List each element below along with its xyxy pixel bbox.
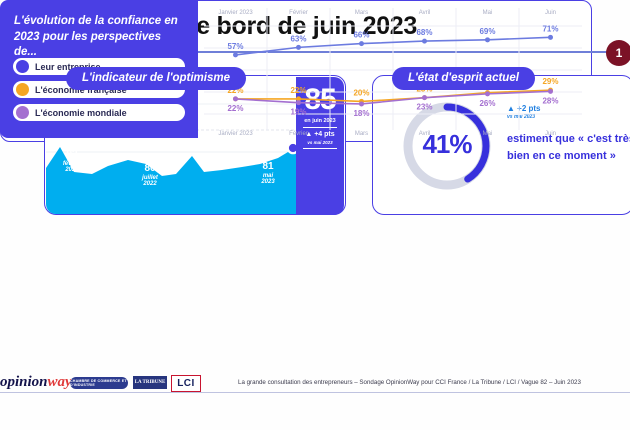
legend-item-economie-mondiale[interactable]: L'économie mondiale (13, 104, 185, 121)
svg-text:Février: Février (289, 131, 308, 137)
svg-text:22%: 22% (290, 86, 306, 95)
footer-source-text: La grande consultation des entrepreneurs… (238, 379, 581, 386)
svg-text:66%: 66% (353, 31, 369, 40)
svg-text:Avril: Avril (419, 10, 431, 16)
svg-text:26%: 26% (479, 99, 495, 108)
mood-pill-label: L'état d'esprit actuel (392, 67, 535, 90)
la-tribune-logo: LA TRIBUNE (133, 376, 167, 389)
svg-text:Janvier 2023: Janvier 2023 (218, 131, 253, 137)
optimism-divider-2 (303, 148, 337, 149)
svg-text:20%: 20% (353, 88, 369, 97)
svg-text:Avril: Avril (419, 131, 431, 137)
svg-text:68%: 68% (416, 28, 432, 37)
svg-text:19%: 19% (290, 108, 306, 117)
confidence-heading: L'évolution de la confiance en 2023 pour… (14, 14, 186, 61)
optimism-marker-jul2022: 80 juillet 2022 (128, 164, 172, 187)
svg-text:69%: 69% (479, 27, 495, 36)
optimism-marker-may2023: 81 mai 2023 (248, 162, 288, 185)
svg-text:23%: 23% (416, 103, 432, 112)
svg-text:22%: 22% (227, 104, 243, 113)
page-number-badge: 1 (606, 40, 630, 66)
opinionway-logo: opinionway (0, 374, 72, 391)
svg-text:Février: Février (289, 10, 308, 16)
svg-text:18%: 18% (353, 109, 369, 118)
svg-text:28%: 28% (542, 96, 558, 105)
legend-dot-icon (16, 60, 29, 73)
svg-text:Janvier 2023: Janvier 2023 (218, 10, 253, 16)
svg-text:Mars: Mars (355, 10, 368, 16)
legend-dot-icon (16, 83, 29, 96)
legend-dot-icon (16, 106, 29, 119)
slide-canvas: Le tableau de bord de juin 2023 1 100 92… (0, 0, 630, 430)
svg-text:63%: 63% (290, 34, 306, 43)
legend-label: L'économie mondiale (35, 108, 127, 118)
optimism-marker-feb2022: 92 février 2022 (52, 150, 92, 173)
svg-text:57%: 57% (227, 42, 243, 51)
lci-logo: LCI (171, 375, 201, 392)
cci-france-logo: CHAMBRE DE COMMERCE ET D'INDUSTRIE (70, 377, 128, 389)
svg-text:Mars: Mars (355, 131, 368, 137)
svg-text:Mai: Mai (483, 131, 493, 137)
svg-text:Juin: Juin (545, 10, 556, 16)
svg-text:Mai: Mai (483, 10, 493, 16)
svg-text:29%: 29% (542, 77, 558, 86)
svg-text:71%: 71% (542, 24, 558, 33)
optimism-delta-caption: vs mai 2023 (296, 140, 344, 145)
footer-divider (0, 392, 630, 393)
svg-text:Juin: Juin (545, 131, 556, 137)
optimism-pill-label: L'indicateur de l'optimisme (66, 67, 246, 90)
